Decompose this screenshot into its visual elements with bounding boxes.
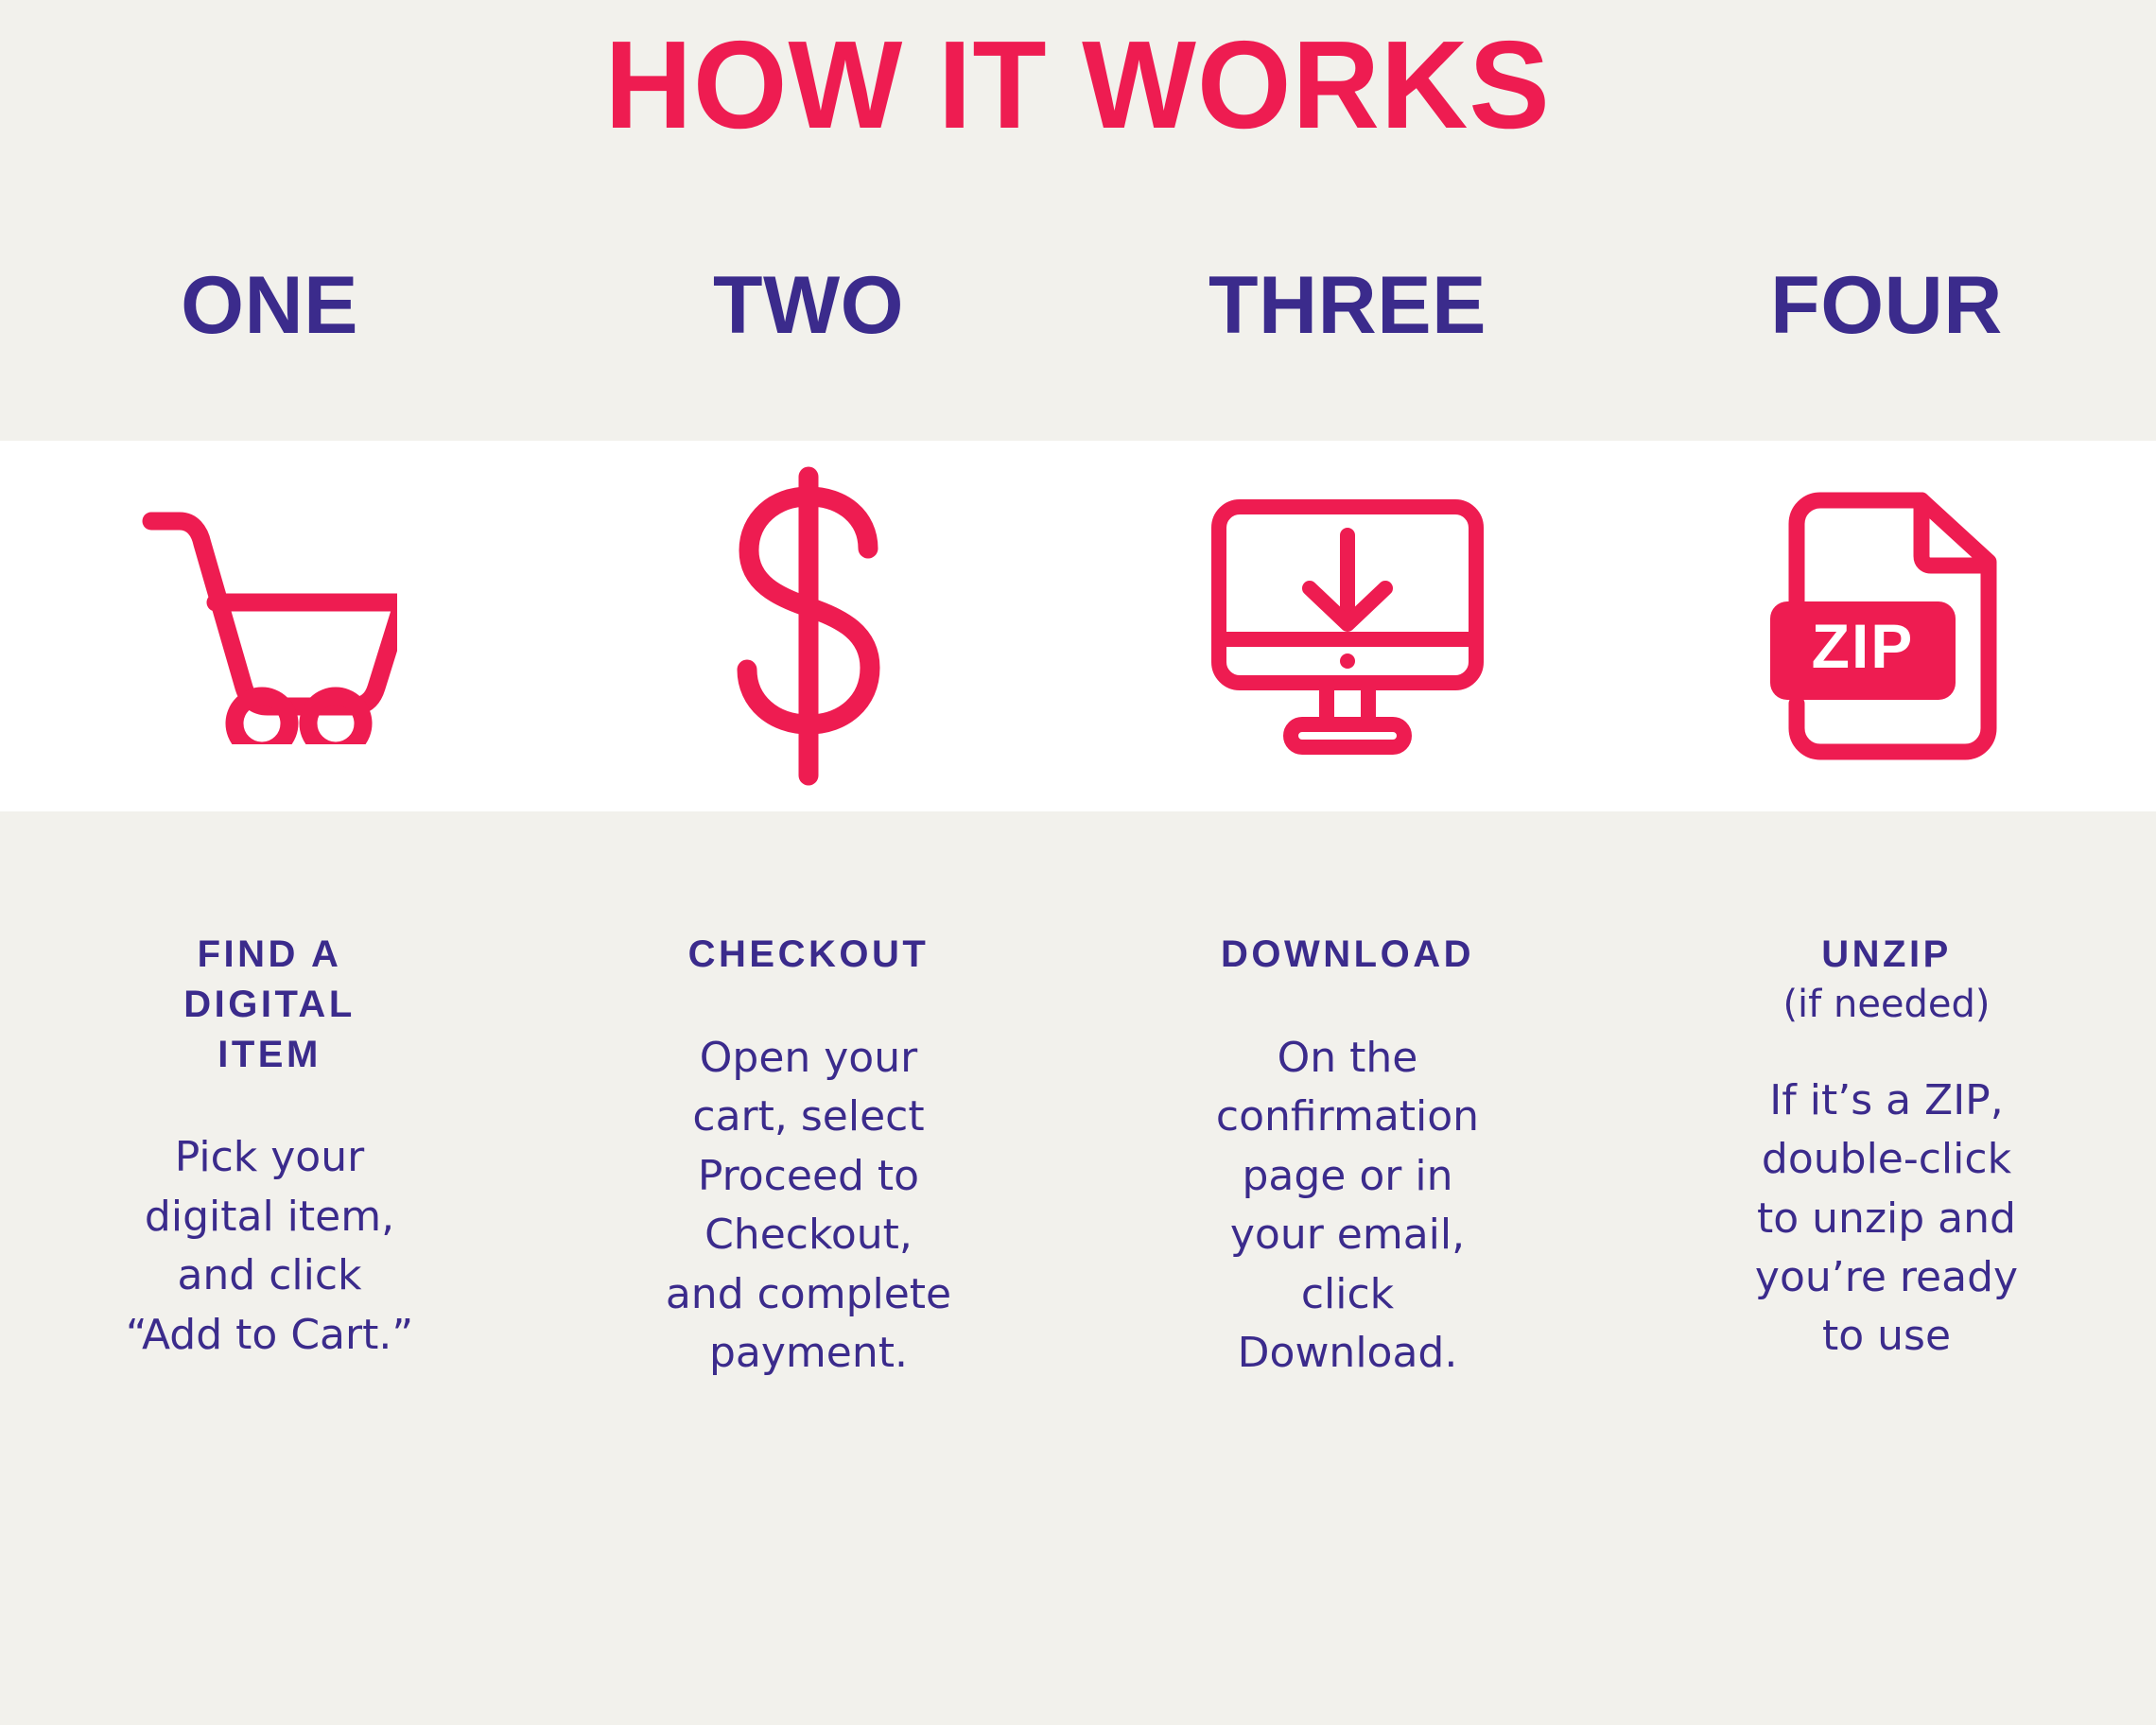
step-numbers-row: ONE TWO THREE FOUR (0, 170, 2156, 441)
icon-band: ZIP (0, 441, 2156, 811)
caption-heading-one: FIND A DIGITAL ITEM (183, 930, 356, 1079)
step-number-two: TWO (539, 265, 1078, 346)
icon-cell-three (1078, 441, 1617, 811)
caption-cell-one: FIND A DIGITAL ITEM Pick your digital it… (0, 930, 539, 1365)
zip-file-icon: ZIP (1768, 484, 2005, 768)
caption-body-four: If it’s a ZIP, double-click to unzip and… (1755, 1072, 2018, 1367)
caption-cell-four: UNZIP (if needed) If it’s a ZIP, double-… (1617, 930, 2156, 1367)
caption-subheading-four: (if needed) (1782, 980, 1990, 1030)
icon-cell-one (0, 441, 539, 811)
step-number-one: ONE (0, 265, 539, 346)
caption-body-three: On the confirmation page or in your emai… (1216, 1029, 1479, 1384)
dollar-sign-icon (719, 465, 898, 787)
caption-body-one: Pick your digital item, and click “Add t… (126, 1128, 413, 1365)
step-number-four: FOUR (1617, 265, 2156, 346)
icon-cell-four: ZIP (1617, 441, 2156, 811)
caption-body-two: Open your cart, select Proceed to Checko… (666, 1029, 951, 1384)
caption-heading-four: UNZIP (1821, 930, 1952, 980)
monitor-download-icon (1206, 494, 1489, 758)
caption-cell-three: DOWNLOAD On the confirmation page or in … (1078, 930, 1617, 1384)
how-it-works-infographic: HOW IT WORKS ONE TWO THREE FOUR (0, 0, 2156, 1725)
captions-row: FIND A DIGITAL ITEM Pick your digital it… (0, 811, 2156, 1725)
caption-cell-two: CHECKOUT Open your cart, select Proceed … (539, 930, 1078, 1384)
zip-badge-label: ZIP (1812, 611, 1915, 681)
page-title: HOW IT WORKS (605, 23, 1551, 148)
icon-cell-two (539, 441, 1078, 811)
caption-heading-two: CHECKOUT (688, 930, 930, 980)
step-number-three: THREE (1078, 265, 1617, 346)
title-area: HOW IT WORKS (0, 0, 2156, 170)
shopping-cart-icon (142, 508, 397, 744)
caption-heading-three: DOWNLOAD (1221, 930, 1474, 980)
